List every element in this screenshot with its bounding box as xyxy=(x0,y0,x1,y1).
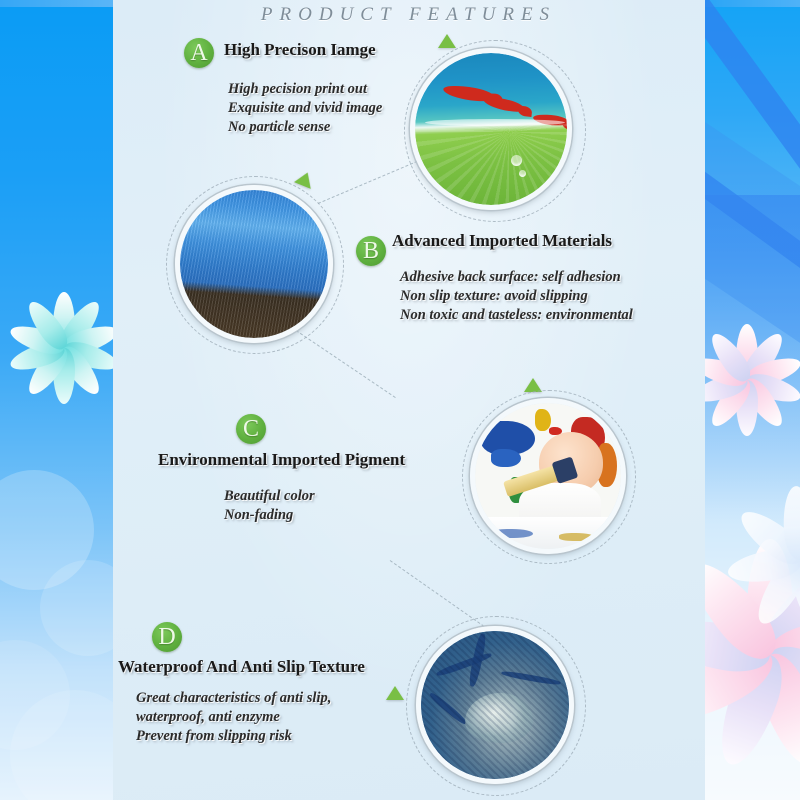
feature-bullet: Non toxic and tasteless: environmental xyxy=(400,306,633,325)
feature-bullets-d: Great characteristics of anti slip, wate… xyxy=(136,689,331,746)
arrow-up-icon xyxy=(438,34,456,48)
feature-heading-a: High Precison Iamge xyxy=(224,40,376,60)
koi-fish-shape xyxy=(482,94,525,115)
paint-splatter xyxy=(559,533,595,541)
page-title: PRODUCT FEATURES xyxy=(112,4,705,26)
feature-bullet: No particle sense xyxy=(228,118,382,137)
koi-pond-image xyxy=(415,53,567,205)
feature-bullet: Non slip texture: avoid slipping xyxy=(400,287,633,306)
feature-bullet: Beautiful color xyxy=(224,487,315,506)
feature-bullet: Prevent from slipping risk xyxy=(136,727,331,746)
water-droplet xyxy=(519,170,526,177)
water-droplet-large xyxy=(465,693,533,743)
feature-heading-b: Advanced Imported Materials xyxy=(392,231,612,251)
feature-bullet: waterproof, anti enzyme xyxy=(136,708,331,727)
feature-bullet: Adhesive back surface: self adhesion xyxy=(400,268,633,287)
feature-bullet: Non-fading xyxy=(224,506,315,525)
texture-vein xyxy=(428,691,468,726)
right-border-top-strip xyxy=(705,0,800,7)
feature-badge-b: B xyxy=(356,236,386,266)
feature-heading-d: Waterproof And Anti Slip Texture xyxy=(118,657,365,677)
texture-vein xyxy=(467,633,487,688)
texture-vein xyxy=(501,670,561,686)
white-petal-flower xyxy=(741,500,800,620)
baby-painting-photo xyxy=(470,398,626,554)
product-features-infographic: PRODUCT FEATURES xyxy=(0,0,800,800)
paint-splatter xyxy=(493,529,533,538)
right-decorative-border xyxy=(705,0,800,800)
feature-bullets-b: Adhesive back surface: self adhesion Non… xyxy=(400,268,633,325)
texture-vein xyxy=(436,651,493,677)
pink-petal-flower xyxy=(705,330,797,430)
feature-bullets-a: High pecision print out Exquisite and vi… xyxy=(228,80,382,137)
waterproof-texture-image xyxy=(421,631,569,779)
koi-pond-print-photo xyxy=(410,48,572,210)
feature-heading-c: Environmental Imported Pigment xyxy=(158,450,405,470)
waterproof-texture-photo xyxy=(416,626,574,784)
feature-badge-a: A xyxy=(184,38,214,68)
feature-bullets-c: Beautiful color Non-fading xyxy=(224,487,315,525)
feature-bullet: Great characteristics of anti slip, xyxy=(136,689,331,708)
left-decorative-border xyxy=(0,0,113,800)
blue-fabric-roll-photo xyxy=(175,185,333,343)
cyan-petal-flower xyxy=(16,300,112,396)
feature-badge-d: D xyxy=(152,622,182,652)
lily-pad-veins xyxy=(415,124,567,205)
feature-bullet: High pecision print out xyxy=(228,80,382,99)
left-border-top-strip xyxy=(0,0,113,7)
blue-fabric-image xyxy=(180,190,328,338)
paint-splatter xyxy=(491,449,521,467)
feature-bullet: Exquisite and vivid image xyxy=(228,99,382,118)
paint-splatter xyxy=(549,427,562,435)
water-droplet xyxy=(511,155,522,166)
baby-painting-image xyxy=(475,403,621,549)
arrow-up-icon xyxy=(386,686,404,700)
feature-badge-c: C xyxy=(236,414,266,444)
